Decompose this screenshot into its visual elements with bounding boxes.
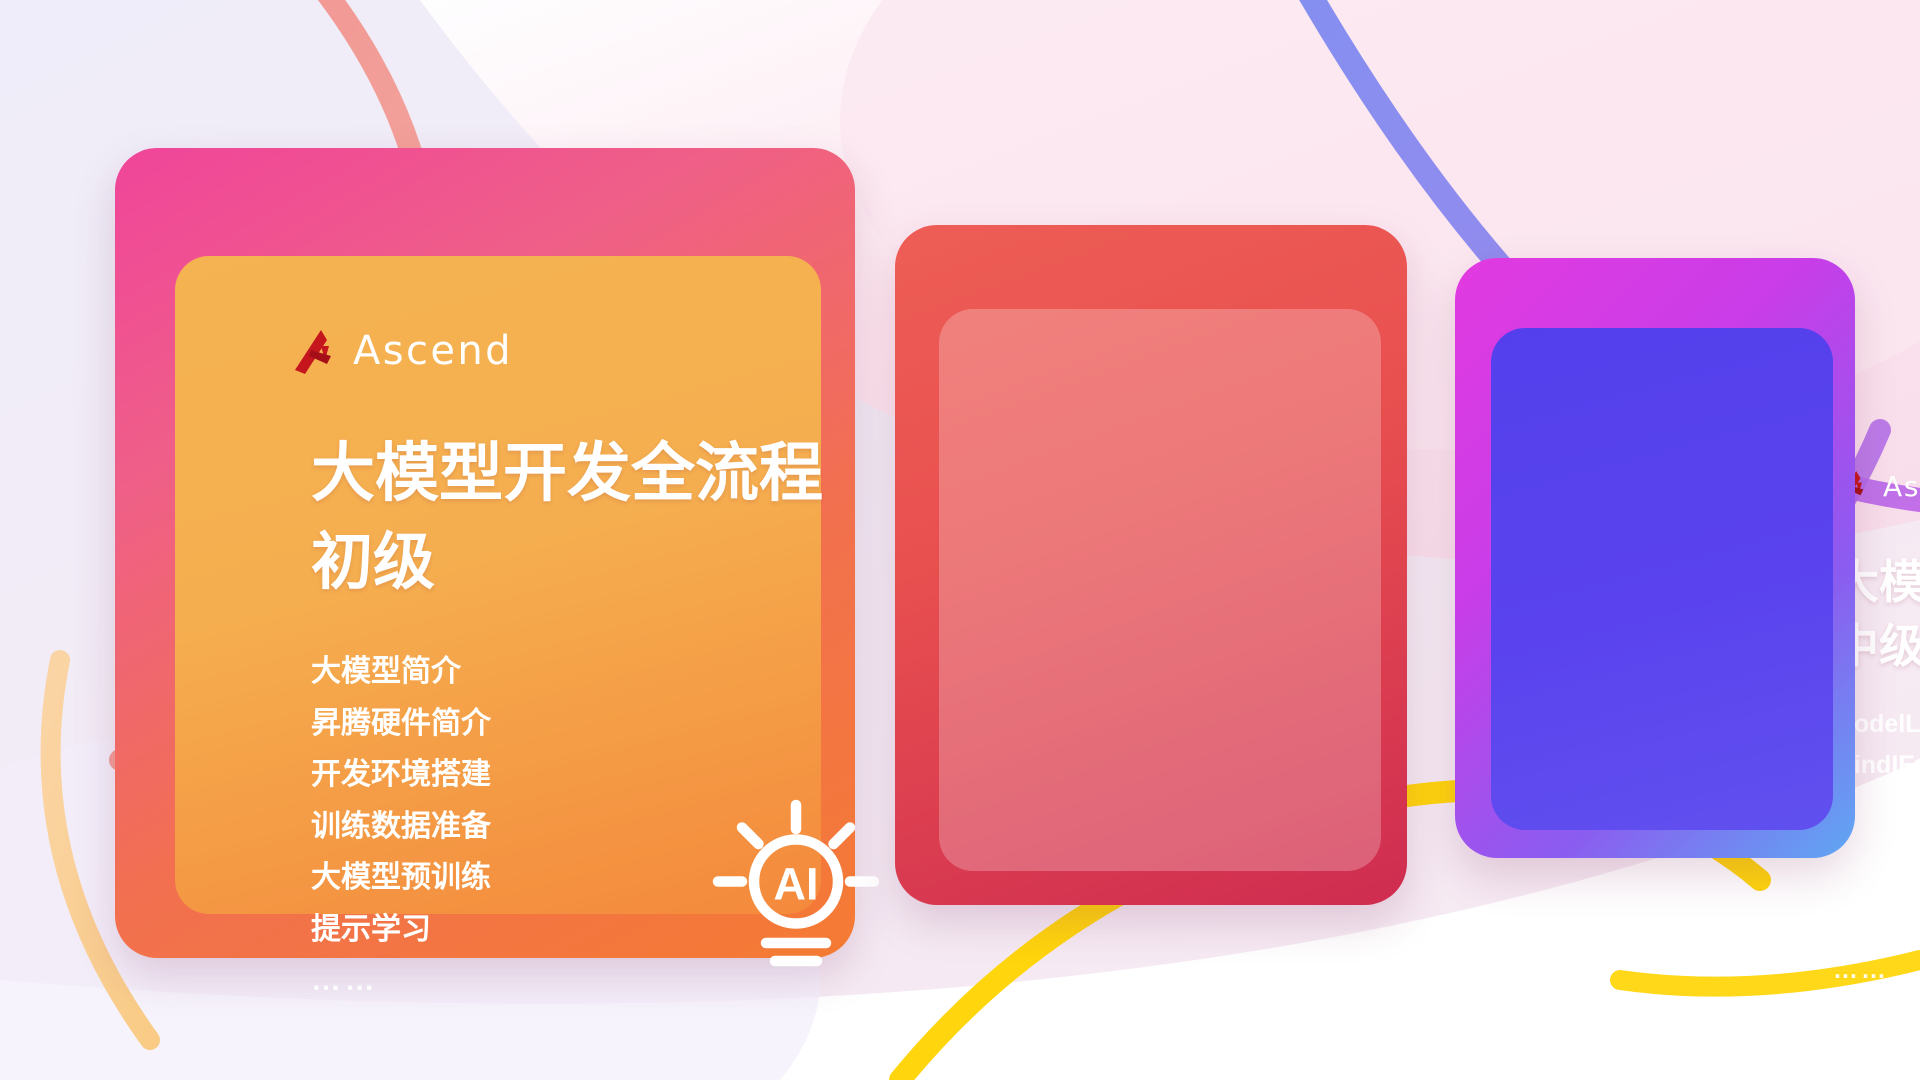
ai-bulb-label: AI	[774, 859, 819, 910]
card-level: 初级	[311, 526, 871, 600]
card-inner-panel	[939, 309, 1381, 871]
ai-lightbulb-glyph: AI	[701, 796, 891, 976]
course-card-advanced[interactable]: Ascend 大模型开发全流程 高级 MindStudio介绍 大模型微调 大模…	[1455, 258, 1855, 858]
list-item-ellipsis: ……	[1833, 950, 1920, 991]
ascend-wordmark: Ascend	[1883, 470, 1920, 503]
ascend-logo: Ascend	[291, 326, 513, 376]
list-item: 开发环境搭建	[311, 749, 871, 801]
card-inner-panel	[1491, 328, 1833, 830]
ascend-wordmark: Ascend	[353, 328, 513, 374]
course-cards: Ascend 大模型开发全流程 初级 大模型简介 昇腾硬件简介 开发环境搭建 训…	[0, 0, 1920, 1080]
list-item: 大模型简介	[311, 646, 871, 698]
ai-lightbulb-icon: AI	[701, 796, 891, 976]
list-item: 昇腾硬件简介	[311, 698, 871, 750]
list-item: 大模型应用-RAG	[1833, 868, 1920, 909]
card-title: 大模型开发全流程	[311, 436, 871, 512]
course-card-intermediate[interactable]: Ascend 大模型开发全流程 中级 ModelLink介绍 MindIE介绍 …	[895, 225, 1407, 905]
course-card-beginner[interactable]: Ascend 大模型开发全流程 初级 大模型简介 昇腾硬件简介 开发环境搭建 训…	[115, 148, 855, 958]
list-item: 大模型应用-智能体	[1833, 909, 1920, 950]
ascend-logo-icon	[291, 326, 339, 376]
